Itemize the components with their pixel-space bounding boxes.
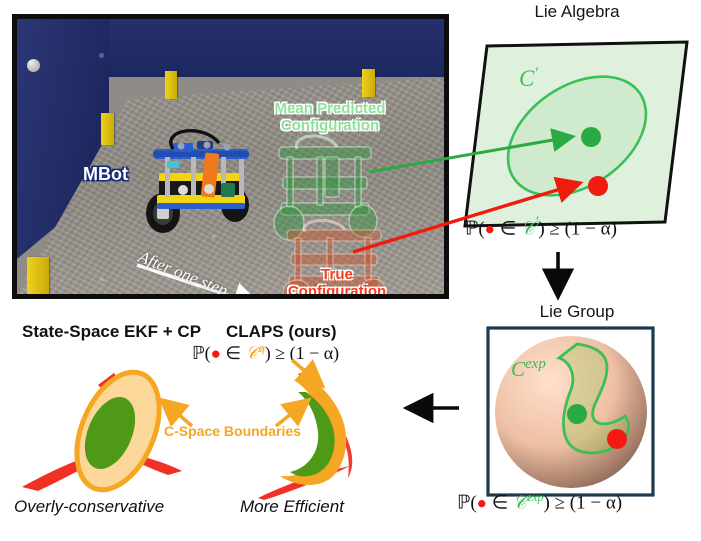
yellow-post-4 (27, 257, 49, 299)
group-set-symbol-sup: exp (527, 490, 544, 504)
yellow-post-3 (101, 113, 114, 145)
lie-algebra-diagram: C′ (455, 24, 699, 234)
ekf-caption: Overly-conservative (14, 497, 164, 517)
gray-ball (27, 59, 40, 72)
mean-predicted-line1: Mean Predicted (275, 100, 386, 117)
photo-label-mean-predicted: Mean Predicted Configuration (255, 101, 405, 135)
geq-symbol: ≥ (549, 218, 559, 239)
cspace-boundaries-label: C-Space Boundaries (164, 423, 301, 439)
yellow-post-2 (362, 69, 375, 97)
back-to-cspace-arrow (405, 397, 463, 419)
photo-label-true-configuration: True Configuration (275, 267, 399, 299)
claps-caption: More Efficient (240, 497, 344, 517)
group-true-dot-glyph: ● (477, 493, 487, 512)
mean-dot-algebra (581, 127, 601, 147)
lie-group-title: Lie Group (455, 302, 699, 322)
true-config-line1: True (321, 266, 353, 283)
group-close-paren: ) (544, 492, 550, 513)
yellow-post-1 (165, 71, 177, 99)
lie-algebra-title: Lie Algebra (455, 2, 699, 22)
photo-label-mbot: MBot (83, 164, 128, 184)
set-label-sup: ′ (534, 65, 538, 82)
group-prob-operator: ℙ( (457, 492, 477, 513)
prob-operator: ℙ( (465, 218, 485, 239)
close-paren: ) (538, 218, 544, 239)
lie-group-guarantee: ℙ(● ∈ 𝒞exp) ≥ (1 − α) (457, 490, 622, 514)
set-symbol: 𝒞 (521, 218, 535, 239)
lie-group-diagram: Cexp (455, 324, 699, 504)
lie-group-panel: Lie Group Cexp ℙ(● ∈ 𝒞exp) ≥ (1 − α) (455, 302, 699, 540)
robot-photo-panel: MBot Mean Predicted Configuration True C… (12, 14, 449, 299)
group-set-base: C (511, 357, 526, 381)
claps-guarantee-arrow (290, 358, 338, 398)
claps-heading: CLAPS (ours) (226, 322, 337, 342)
ekf-heading: State-Space EKF + CP (22, 322, 201, 342)
mean-dot-group (567, 404, 587, 424)
true-dot-group (607, 429, 627, 449)
group-set-sup: exp (525, 356, 546, 372)
exp-map-arrow (550, 252, 576, 302)
mean-predicted-line2: Configuration (281, 117, 379, 134)
group-geq-symbol: ≥ (555, 492, 565, 513)
set-label-base: C (519, 66, 535, 91)
group-set-symbol: 𝒞 (513, 492, 527, 513)
alpha-bound: (1 − α) (565, 218, 617, 239)
mbot-robot (147, 137, 247, 232)
element-of: ∈ (500, 218, 517, 239)
true-dot-glyph: ● (485, 219, 495, 238)
true-dot-algebra (588, 176, 608, 196)
group-element-of: ∈ (492, 492, 509, 513)
lie-algebra-guarantee: ℙ(● ∈ 𝒞′) ≥ (1 − α) (465, 214, 617, 240)
group-alpha-bound: (1 − α) (570, 492, 622, 513)
lie-algebra-panel: Lie Algebra C′ ℙ(● ∈ 𝒞′) ≥ (1 − α) (455, 2, 699, 264)
wall-dot (99, 53, 104, 58)
true-config-line2: Configuration (288, 283, 386, 299)
